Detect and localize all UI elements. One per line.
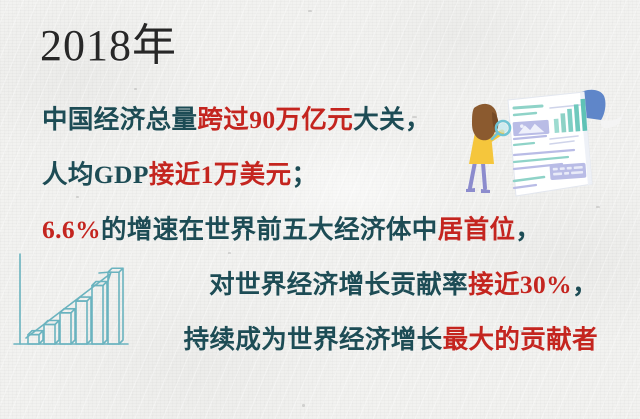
statement-segment: 中国经济总量 xyxy=(42,105,197,134)
statement-segment: 人均GDP xyxy=(42,160,149,189)
analyst-illustration xyxy=(462,84,640,206)
chart-bar xyxy=(44,325,55,345)
chart-bar-3d xyxy=(44,321,59,345)
chart-bar-3d xyxy=(76,297,91,344)
chart-bars xyxy=(28,268,123,344)
statement-segment: 最大的贡献者 xyxy=(443,325,598,354)
chart-bar xyxy=(76,301,87,344)
statement-segment: 6.6% xyxy=(42,215,101,244)
page-title: 2018年 xyxy=(40,24,177,68)
statement-segment: 居首位 xyxy=(438,215,516,244)
statement-segment: 对世界经济增长贡献率 xyxy=(209,270,468,299)
paper-speck xyxy=(134,88,137,90)
statement-segment: 大关， xyxy=(353,105,431,134)
chart-bar-3d xyxy=(28,331,43,344)
statement-segment: ， xyxy=(572,270,598,299)
chart-bar xyxy=(60,313,71,344)
paper-speck xyxy=(308,10,312,12)
statement-segment: ， xyxy=(515,215,541,244)
statement-segment: 接近1万美元 xyxy=(149,160,292,189)
infographic-poster: 2018年 中国经济总量跨过90万亿元大关， 人均GDP接近1万美元； 6.6%… xyxy=(0,0,640,419)
document-table-block xyxy=(549,163,586,180)
growth-bar-chart-icon xyxy=(6,248,134,356)
statement-segment: 的增速在世界前五大经济体中 xyxy=(101,215,438,244)
document-image-block xyxy=(513,120,550,136)
chart-trend-arrow-line xyxy=(26,274,110,338)
chart-bar-3d xyxy=(92,282,107,345)
statement-segment: 跨过90万亿元 xyxy=(197,105,353,134)
chart-bar-3d xyxy=(108,268,123,344)
chart-bar xyxy=(92,286,103,345)
statement-segment: ； xyxy=(291,160,317,189)
statement-segment: 接近30% xyxy=(468,270,572,299)
chart-bar-3d xyxy=(60,309,75,344)
analyst-person xyxy=(466,104,510,193)
chart-bar xyxy=(108,272,119,344)
statement-segment: 持续成为世界经济增长 xyxy=(184,325,443,354)
paper-speck xyxy=(302,404,305,407)
